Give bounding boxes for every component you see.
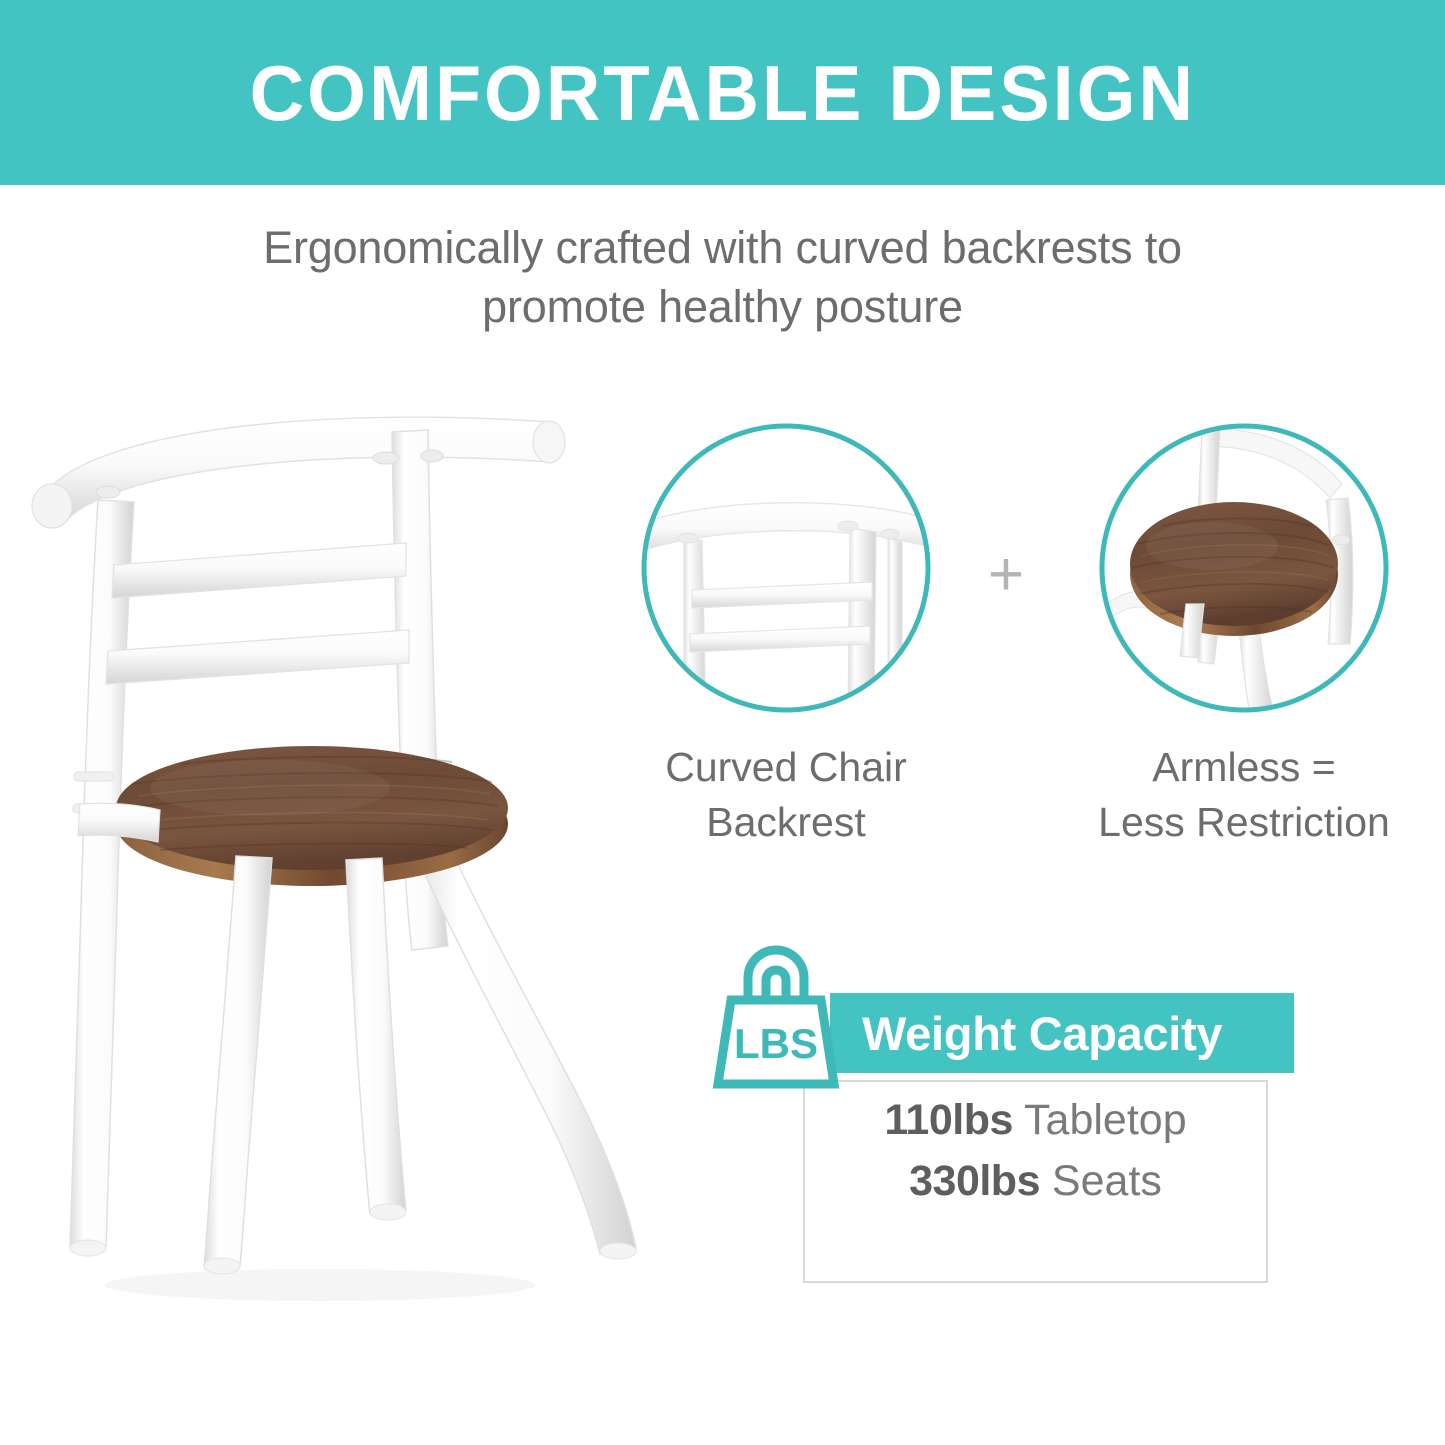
callout-circle-2-graphic [1098,422,1390,714]
plus-icon: + [975,545,1037,607]
seats-weight-label: Seats [1040,1157,1162,1205]
page-title: COMFORTABLE DESIGN [249,54,1195,132]
chair-front-right-leg [408,820,636,1254]
backrest-slat-1 [112,543,406,598]
callout-curved-chair-backrest [640,422,932,714]
tabletop-weight-label: Tabletop [1013,1096,1187,1144]
weight-capacity-values: 110lbs Tabletop 330lbs Seats [803,1090,1268,1212]
weight-capacity-banner: Weight Capacity [830,993,1294,1073]
callout-label-2-line-1: Armless = [1034,740,1445,795]
callout-label-1-line-2: Backrest [576,795,996,850]
weight-capacity-title: Weight Capacity [830,1006,1222,1061]
svg-text:LBS: LBS [734,1020,818,1067]
weight-capacity-section: Weight Capacity LBS 110lbs Tabletop 330l… [712,938,1312,1298]
tabletop-weight-value: 110lbs [884,1096,1013,1144]
weight-bag-icon: LBS [712,938,840,1090]
callout-armless-less-restriction [1098,422,1390,714]
callout-label-2: Armless = Less Restriction [1034,740,1445,851]
subtitle-line-1: Ergonomically crafted with curved backre… [0,218,1445,277]
chair-front-center-leg [346,858,406,1214]
chair-illustration [20,380,660,1330]
header-banner: COMFORTABLE DESIGN [0,0,1445,185]
callout-circle-1-graphic [640,422,932,714]
seat-rear-upright-zoom [1198,428,1220,514]
callout-label-2-line-2: Less Restriction [1034,795,1445,850]
callout-label-1-line-1: Curved Chair [576,740,996,795]
weight-capacity-row-seats: 330lbs Seats [803,1151,1268,1212]
subtitle-line-2: promote healthy posture [0,277,1445,336]
weight-capacity-row-tabletop: 110lbs Tabletop [803,1090,1268,1151]
seats-weight-value: 330lbs [909,1157,1040,1205]
backrest-slat-2 [106,630,409,684]
callout-label-1: Curved Chair Backrest [576,740,996,851]
infographic-page: COMFORTABLE DESIGN Ergonomically crafted… [0,0,1445,1445]
chair-rear-left-leg [70,500,134,1248]
subtitle-text: Ergonomically crafted with curved backre… [0,218,1445,337]
chair-front-left-leg [204,856,272,1266]
product-image-chair [20,380,660,1330]
